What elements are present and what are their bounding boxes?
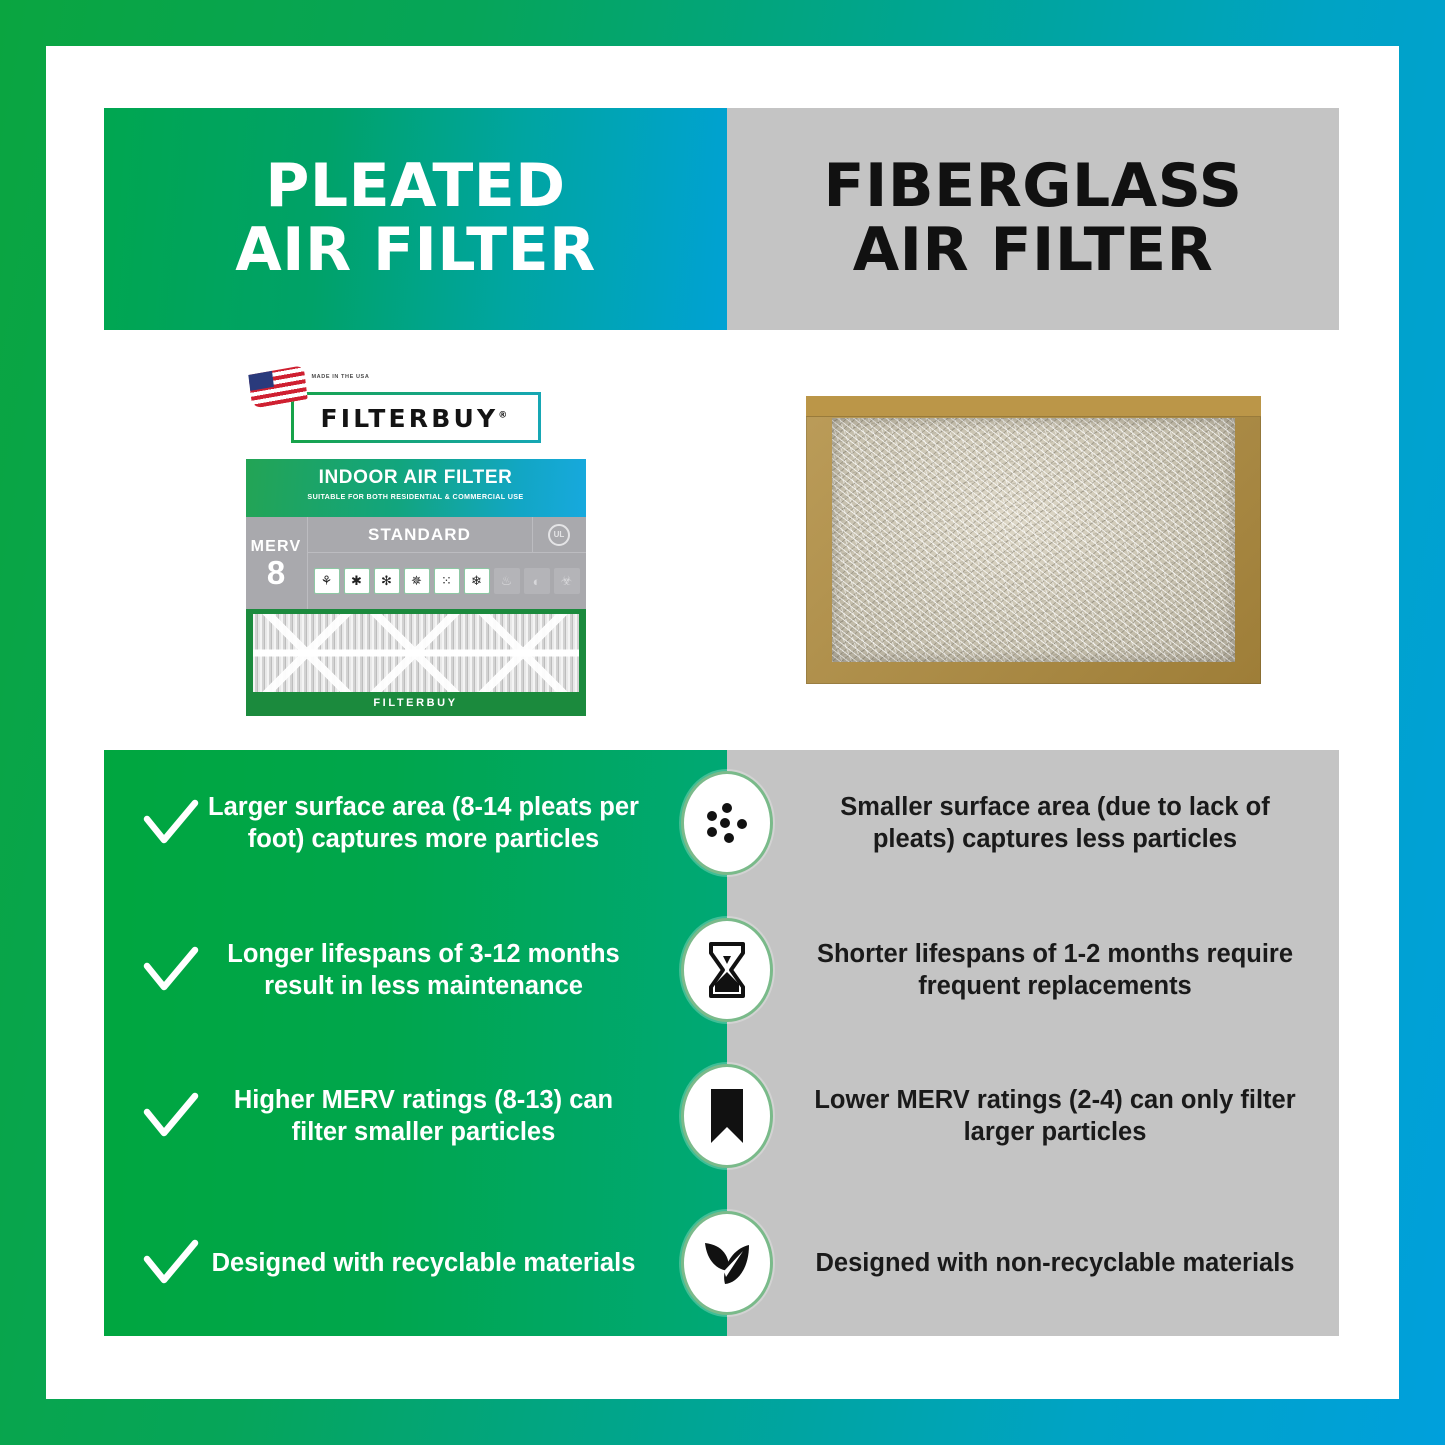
infographic-content: PLEATED AIR FILTER FIBERGLASS AIR FILTER…	[104, 108, 1339, 1336]
pleat-texture	[253, 614, 579, 692]
comparison-row: Higher MERV ratings (8-13) can filter sm…	[104, 1043, 1339, 1190]
band-title: INDOOR AIR FILTER	[246, 467, 586, 489]
pleated-image-cell: MADE IN THE USA FILTERBUY® INDOOR AIR FI…	[104, 330, 727, 750]
filterbuy-product-box: MADE IN THE USA FILTERBUY® INDOOR AIR FI…	[246, 364, 586, 716]
row-1-pleated-text: Larger surface area (8-14 pleats per foo…	[206, 791, 641, 855]
hourglass-icon	[681, 918, 773, 1022]
bacteria-icon: ◐	[524, 568, 550, 594]
row-4-pleated: Designed with recyclable materials	[104, 1237, 727, 1289]
ul-icon: UL	[548, 524, 570, 546]
header-pleated-line1: PLEATED	[235, 155, 596, 219]
comparison-row: Designed with recyclable materials Desig…	[104, 1190, 1339, 1337]
support-strip	[253, 650, 579, 657]
trademark-symbol: ®	[498, 411, 510, 421]
checkmark-icon	[142, 1090, 200, 1142]
particles-dots-icon	[681, 771, 773, 875]
checkmark-icon	[142, 797, 200, 849]
header-fiberglass-line2: AIR FILTER	[824, 219, 1243, 283]
made-in-usa-label: MADE IN THE USA	[312, 373, 370, 381]
box-footer-brand: FILTERBUY	[253, 692, 579, 709]
comparison-row: Larger surface area (8-14 pleats per foo…	[104, 750, 1339, 897]
brand-logo-text: FILTERBUY®	[320, 404, 510, 433]
header-pleated-line2: AIR FILTER	[235, 219, 596, 283]
row-2-pleated: Longer lifespans of 3-12 months result i…	[104, 938, 727, 1002]
mold-icon: ✻	[374, 568, 400, 594]
spec-right: STANDARD UL ⚘ ✱ ✻ ✵ ⁙ ❄ ♨	[308, 517, 586, 609]
checkmark-icon	[142, 944, 200, 996]
header-pleated-title: PLEATED AIR FILTER	[235, 155, 596, 282]
row-3-pleated: Higher MERV ratings (8-13) can filter sm…	[104, 1084, 727, 1148]
white-canvas: PLEATED AIR FILTER FIBERGLASS AIR FILTER…	[46, 46, 1399, 1399]
pet-dander-icon: ❄	[464, 568, 490, 594]
dust-lint-icon: ⚘	[314, 568, 340, 594]
brand-logo-frame: FILTERBUY®	[291, 392, 541, 443]
header-band: PLEATED AIR FILTER FIBERGLASS AIR FILTER	[104, 108, 1339, 330]
comparison-rows: Larger surface area (8-14 pleats per foo…	[104, 750, 1339, 1336]
row-2-fiberglass: Shorter lifespans of 1-2 months require …	[727, 938, 1339, 1002]
comparison-panel: Larger surface area (8-14 pleats per foo…	[104, 750, 1339, 1336]
product-images-band: MADE IN THE USA FILTERBUY® INDOOR AIR FI…	[104, 330, 1339, 750]
header-pleated: PLEATED AIR FILTER	[104, 108, 727, 330]
row-4-pleated-text: Designed with recyclable materials	[206, 1247, 641, 1279]
header-fiberglass-line1: FIBERGLASS	[824, 155, 1243, 219]
fiberglass-filter-photo	[806, 396, 1261, 684]
ul-certification-mark: UL	[532, 517, 586, 552]
leaf-sprout-icon	[681, 1211, 773, 1315]
bookmark-icon	[681, 1064, 773, 1168]
row-2-pleated-text: Longer lifespans of 3-12 months result i…	[206, 938, 641, 1002]
spec-band: MERV 8 STANDARD UL ⚘ ✱ ✻	[246, 517, 586, 609]
feature-icon-row: ⚘ ✱ ✻ ✵ ⁙ ❄ ♨ ◐ ☣	[308, 553, 586, 609]
row-1-fiberglass-text: Smaller surface area (due to lack of ple…	[811, 791, 1299, 855]
row-4-fiberglass: Designed with non-recyclable materials	[727, 1247, 1339, 1279]
pollen-icon: ✵	[404, 568, 430, 594]
comparison-row: Longer lifespans of 3-12 months result i…	[104, 897, 1339, 1044]
merv-value: 8	[267, 556, 285, 589]
row-1-fiberglass: Smaller surface area (due to lack of ple…	[727, 791, 1339, 855]
merv-label: MERV	[251, 538, 302, 556]
row-3-pleated-text: Higher MERV ratings (8-13) can filter sm…	[206, 1084, 641, 1148]
row-3-fiberglass: Lower MERV ratings (2-4) can only filter…	[727, 1084, 1339, 1148]
band-subtitle: SUITABLE FOR BOTH RESIDENTIAL & COMMERCI…	[246, 492, 586, 501]
row-4-fiberglass-text: Designed with non-recyclable materials	[816, 1247, 1295, 1279]
dust-mites-icon: ✱	[344, 568, 370, 594]
pleated-media-photo: FILTERBUY	[246, 609, 586, 716]
virus-icon: ☣	[554, 568, 580, 594]
header-fiberglass-title: FIBERGLASS AIR FILTER	[824, 155, 1243, 282]
merv-badge: MERV 8	[246, 517, 308, 609]
dust-icon: ⁙	[434, 568, 460, 594]
grade-row: STANDARD UL	[308, 517, 586, 553]
row-1-pleated: Larger surface area (8-14 pleats per foo…	[104, 791, 727, 855]
smoke-icon: ♨	[494, 568, 520, 594]
checkmark-icon	[142, 1237, 200, 1289]
box-brand-header: MADE IN THE USA FILTERBUY®	[246, 364, 586, 459]
row-3-fiberglass-text: Lower MERV ratings (2-4) can only filter…	[811, 1084, 1299, 1148]
grade-label: STANDARD	[308, 517, 532, 552]
gradient-border-frame: PLEATED AIR FILTER FIBERGLASS AIR FILTER…	[0, 0, 1445, 1445]
fiberglass-mesh-texture	[832, 418, 1235, 662]
fiberglass-image-cell	[727, 330, 1339, 750]
header-fiberglass: FIBERGLASS AIR FILTER	[727, 108, 1339, 330]
row-2-fiberglass-text: Shorter lifespans of 1-2 months require …	[811, 938, 1299, 1002]
indoor-air-filter-band: INDOOR AIR FILTER SUITABLE FOR BOTH RESI…	[246, 459, 586, 517]
